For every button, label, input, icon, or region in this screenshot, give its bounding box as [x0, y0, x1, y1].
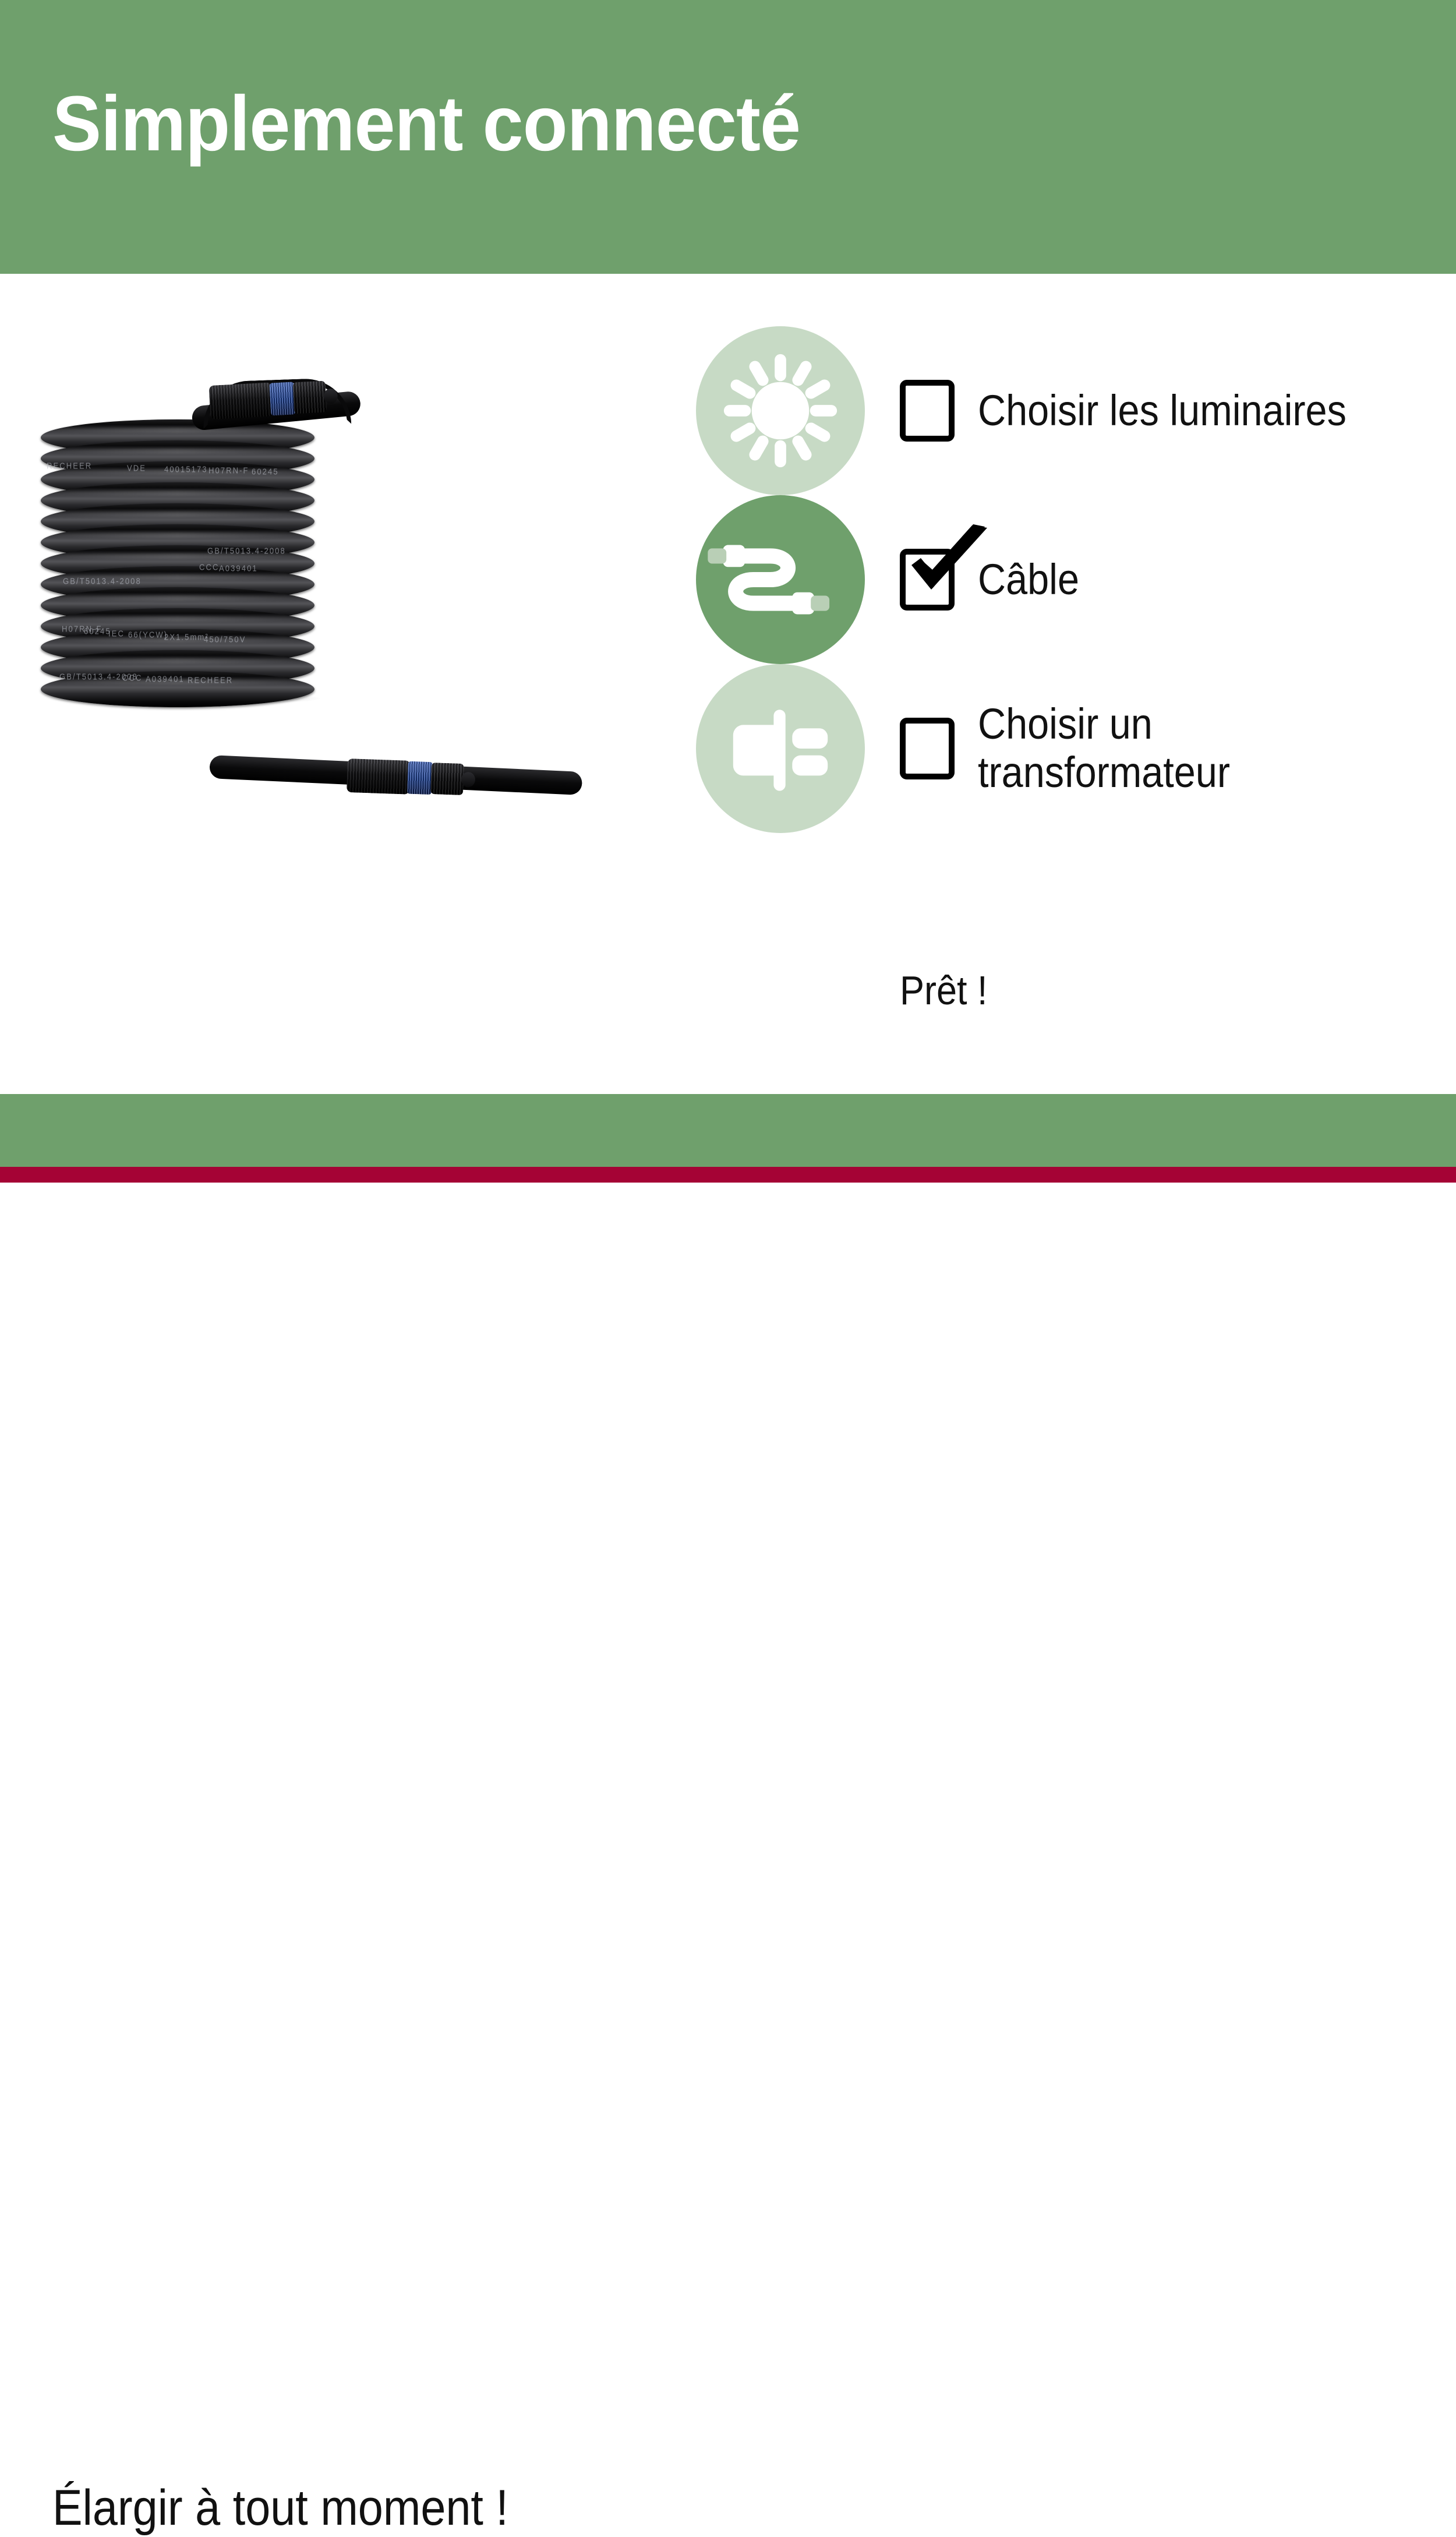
checklist-label: Câble: [978, 556, 1079, 604]
connector-cap: [430, 763, 464, 795]
footer-area: Élargir à tout moment !: [0, 1183, 1456, 1456]
sun-icon: [696, 326, 865, 495]
footer-text: Élargir à tout moment !: [52, 2479, 508, 2537]
bottom-green-banner: [0, 1094, 1456, 1167]
checklist-label: Choisir les luminaires: [978, 387, 1347, 435]
checkbox-transformateur[interactable]: [900, 718, 955, 779]
connector-cap: [292, 381, 327, 414]
crimson-divider-bar: [0, 1167, 1456, 1183]
cable-icon: [696, 495, 865, 664]
cable-loop: [41, 671, 314, 707]
product-photo-cable: RECHEER VDE 40015173 H07RN-F 60245 GB/T5…: [17, 344, 693, 885]
checklist: Choisir les luminaires Câble: [696, 326, 1441, 833]
page-title: Simplement connecté: [52, 85, 800, 163]
connector-body: [208, 382, 273, 419]
checkbox-cable[interactable]: [900, 549, 955, 611]
connector-blue-ring: [407, 761, 433, 795]
checklist-row-luminaires[interactable]: Choisir les luminaires: [696, 326, 1441, 495]
checkbox-area[interactable]: Câble: [900, 495, 1090, 664]
checklist-label: Choisir un transformateur: [978, 700, 1230, 797]
cable-coil: RECHEER VDE 40015173 H07RN-F 60245 GB/T5…: [41, 419, 314, 693]
connector-blue-ring: [269, 382, 295, 415]
checklist-row-cable[interactable]: Câble: [696, 495, 1441, 664]
top-green-banner: Simplement connecté: [0, 0, 1456, 274]
ready-label: Prêt !: [900, 967, 988, 1014]
checkbox-luminaires[interactable]: [900, 380, 955, 442]
checkbox-area[interactable]: Choisir les luminaires: [900, 326, 1387, 495]
checklist-row-transformateur[interactable]: Choisir un transformateur: [696, 664, 1441, 833]
connector-body: [347, 758, 411, 795]
plug-icon: [696, 664, 865, 833]
checkbox-area[interactable]: Choisir un transformateur: [900, 664, 1258, 833]
